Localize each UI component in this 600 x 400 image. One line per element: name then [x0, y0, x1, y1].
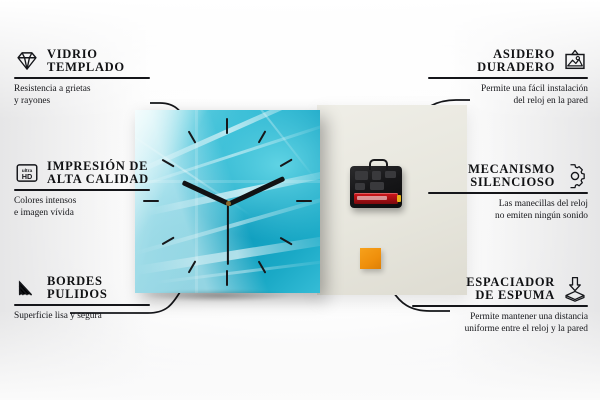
feature-title-line2: SILENCIOSO	[468, 176, 555, 189]
feature-impresion-alta-calidad: ultra HD IMPRESIÓN DE ALTA CALIDAD Color…	[14, 160, 204, 220]
mechanism-detail	[372, 171, 381, 180]
infographic-canvas: VIDRIO TEMPLADO Resistencia a grietas y …	[0, 0, 600, 400]
feature-vidrio-templado: VIDRIO TEMPLADO Resistencia a grietas y …	[14, 48, 204, 108]
feature-titles: IMPRESIÓN DE ALTA CALIDAD	[47, 160, 149, 186]
feature-titles: MECANISMO SILENCIOSO	[468, 163, 555, 189]
feature-rule	[14, 304, 150, 306]
feature-title-line2: DE ESPUMA	[466, 289, 555, 302]
feature-header: ASIDERO DURADERO	[393, 48, 588, 74]
clock-battery	[354, 193, 398, 204]
feature-desc-line1: Permite una fácil instalación	[393, 83, 588, 95]
picture-hanger-icon	[562, 48, 588, 74]
feature-header: BORDES PULIDOS	[14, 275, 204, 301]
feature-desc-line1: Las manecillas del reloj	[393, 198, 588, 210]
feature-header: ESPACIADOR DE ESPUMA	[393, 276, 588, 302]
feature-description: Las manecillas del reloj no emiten ningú…	[393, 198, 588, 223]
feature-description: Permite una fácil instalación del reloj …	[393, 83, 588, 108]
feature-bordes-pulidos: BORDES PULIDOS Superficie lisa y segura	[14, 275, 204, 322]
feature-desc-line2: del reloj en la pared	[393, 95, 588, 107]
feature-rule	[428, 77, 588, 79]
feature-desc-line2: y rayones	[14, 95, 204, 107]
feature-mecanismo-silencioso: MECANISMO SILENCIOSO Las manecillas del …	[393, 163, 588, 223]
feature-titles: ASIDERO DURADERO	[477, 48, 555, 74]
feature-description: Permite mantener una distancia uniforme …	[393, 311, 588, 336]
mechanism-hanger	[369, 159, 388, 170]
feature-rule	[412, 305, 588, 307]
feature-description: Colores intensos e imagen vívida	[14, 195, 204, 220]
mechanism-detail	[370, 182, 384, 190]
feature-titles: BORDES PULIDOS	[47, 275, 107, 301]
feature-rule	[14, 77, 150, 79]
feature-desc-line1: Permite mantener una distancia	[393, 311, 588, 323]
svg-text:HD: HD	[22, 172, 33, 181]
feature-title-line2: TEMPLADO	[47, 61, 125, 74]
feature-titles: ESPACIADOR DE ESPUMA	[466, 276, 555, 302]
feature-title-line2: PULIDOS	[47, 288, 107, 301]
feature-description: Superficie lisa y segura	[14, 310, 204, 322]
feature-header: MECANISMO SILENCIOSO	[393, 163, 588, 189]
feature-rule	[14, 189, 150, 191]
feature-header: VIDRIO TEMPLADO	[14, 48, 204, 74]
mechanism-detail	[355, 171, 368, 180]
battery-label	[357, 196, 387, 200]
diamond-icon	[14, 48, 40, 74]
gear-icon	[562, 163, 588, 189]
feature-asidero-duradero: ASIDERO DURADERO Permite una fácil insta…	[393, 48, 588, 108]
ultra-hd-icon: ultra HD	[14, 160, 40, 186]
foam-spacer-icon	[562, 276, 588, 302]
feature-desc-line2: no emiten ningún sonido	[393, 210, 588, 222]
feature-rule	[428, 192, 588, 194]
clock-hand-center	[226, 201, 231, 206]
foam-spacer-sample	[360, 248, 381, 269]
clock-second-hand	[227, 203, 229, 265]
feature-title-line2: ALTA CALIDAD	[47, 173, 149, 186]
polished-edges-icon	[14, 275, 40, 301]
feature-desc-line2: uniforme entre el reloj y la pared	[393, 323, 588, 335]
feature-header: ultra HD IMPRESIÓN DE ALTA CALIDAD	[14, 160, 204, 186]
feature-espaciador-de-espuma: ESPACIADOR DE ESPUMA Permite mantener un…	[393, 276, 588, 336]
feature-desc-line2: e imagen vívida	[14, 207, 204, 219]
feature-desc-line1: Colores intensos	[14, 195, 204, 207]
feature-title-line2: DURADERO	[477, 61, 555, 74]
feature-titles: VIDRIO TEMPLADO	[47, 48, 125, 74]
mechanism-detail	[355, 183, 365, 190]
feature-desc-line1: Resistencia a grietas	[14, 83, 204, 95]
feature-desc-line1: Superficie lisa y segura	[14, 310, 204, 322]
feature-description: Resistencia a grietas y rayones	[14, 83, 204, 108]
